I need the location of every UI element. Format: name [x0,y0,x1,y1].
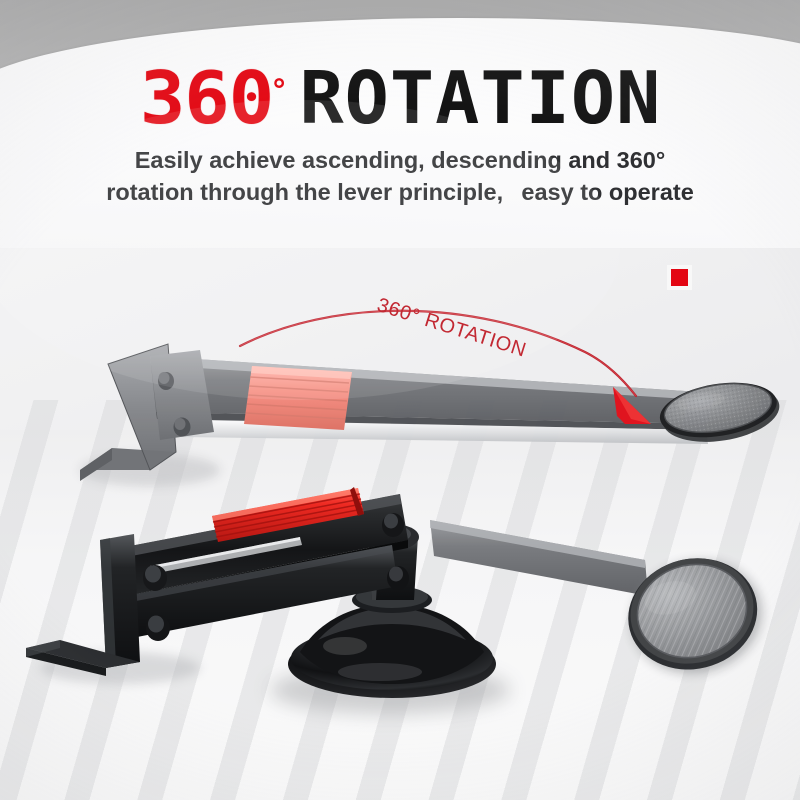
product-illustration [0,0,800,800]
suction-cup-base [288,586,496,698]
ghost-pivot-bolt-lower-highlight [175,418,186,430]
phone-bottom-bracket [26,534,140,676]
arm-joint-bolt-lower-gloss [389,567,403,582]
suction-cup-lower-sheen [338,663,422,681]
arm-bolt-lower-gloss [148,616,164,633]
arm-bolt-upper-gloss [145,566,161,583]
mount-lowered-position [26,487,510,714]
suction-cup-specular [323,637,367,655]
product-feature-image: 360°ROTATION Easily achieve ascending, d… [0,0,800,800]
arm-joint-bolt-upper-gloss [384,514,398,529]
scene-highlight [0,100,620,400]
